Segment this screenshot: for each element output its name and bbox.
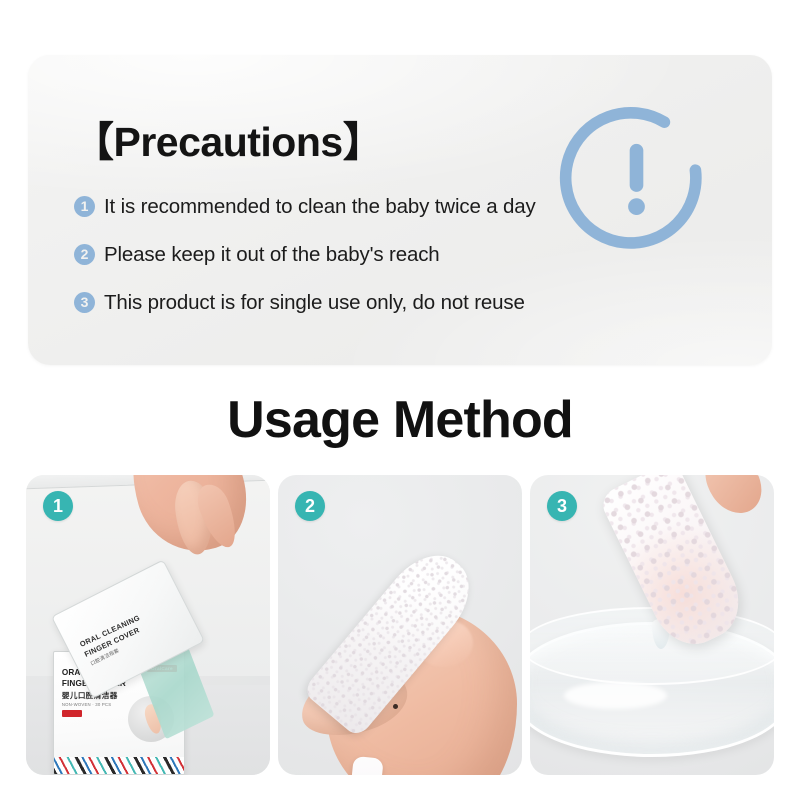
product-box-stripe-pattern (54, 757, 184, 774)
precautions-card: 【Precautions】 1 It is recommended to cle… (28, 55, 772, 365)
precaution-item-1: 1 It is recommended to clean the baby tw… (74, 185, 594, 228)
skin-mole (393, 704, 398, 709)
fingertip (696, 475, 773, 524)
precaution-text-2: Please keep it out of the baby's reach (104, 243, 440, 267)
usage-step-panel-1: 1 ORAL CLEANING FINGER COVER 婴儿口腔清洁器 NON… (26, 475, 270, 775)
precautions-list: 1 It is recommended to clean the baby tw… (74, 185, 594, 329)
usage-method-heading: Usage Method (0, 390, 800, 450)
precaution-text-1: It is recommended to clean the baby twic… (104, 195, 536, 219)
step-badge-3: 3 (547, 491, 577, 521)
precaution-text-3: This product is for single use only, do … (104, 291, 525, 315)
step-badge-1: 1 (43, 491, 73, 521)
precaution-number-badge-2: 2 (74, 244, 95, 265)
precaution-item-2: 2 Please keep it out of the baby's reach (74, 233, 594, 276)
precaution-number-badge-1: 1 (74, 196, 95, 217)
product-infographic: 【Precautions】 1 It is recommended to cle… (0, 0, 800, 800)
exclamation-circle-icon (559, 102, 714, 257)
water-surface-glint (564, 682, 666, 709)
usage-step-panel-3: 3 (530, 475, 774, 775)
product-box-fine-print: NON-WOVEN · 30 PCS (62, 702, 111, 707)
usage-step-panel-2: 2 (278, 475, 522, 775)
product-box-red-chip (62, 710, 82, 717)
usage-steps-row: 1 ORAL CLEANING FINGER COVER 婴儿口腔清洁器 NON… (26, 475, 774, 775)
precaution-number-badge-3: 3 (74, 292, 95, 313)
precautions-title: 【Precautions】 (73, 108, 383, 168)
step-badge-2: 2 (295, 491, 325, 521)
precaution-item-3: 3 This product is for single use only, d… (74, 281, 594, 324)
